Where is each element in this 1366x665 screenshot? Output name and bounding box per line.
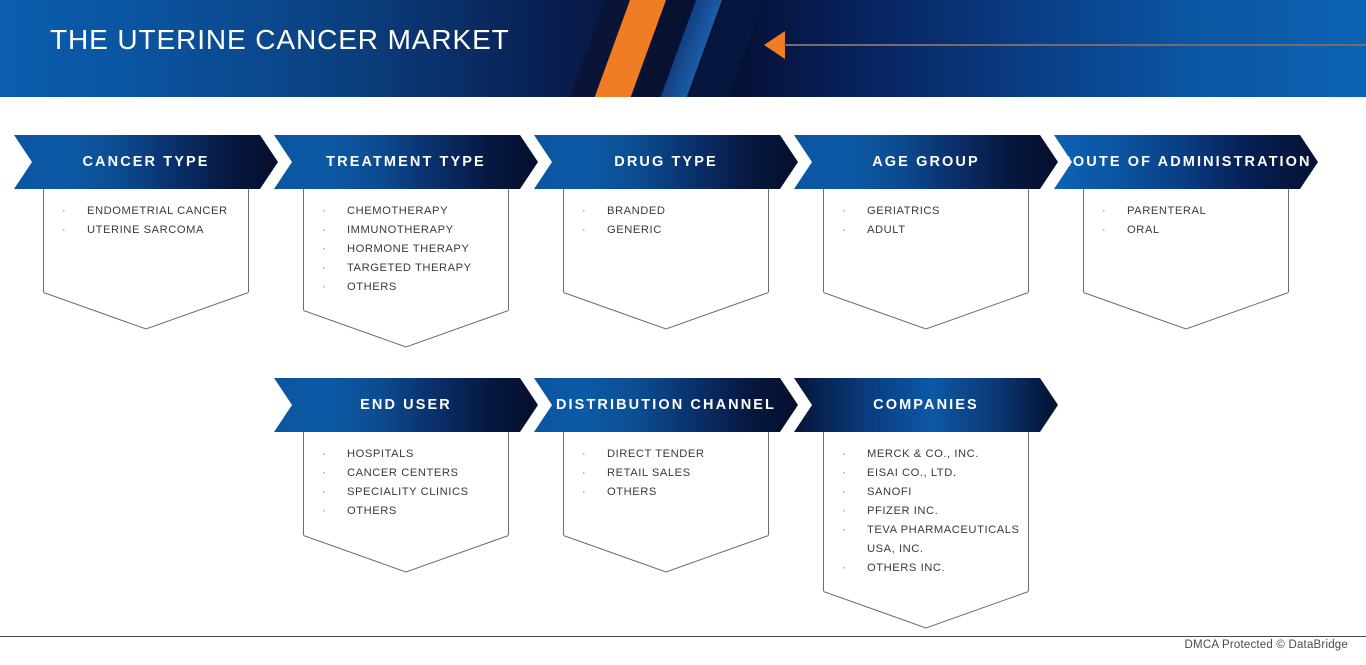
segment-banner-companies[interactable]: COMPANIES bbox=[794, 378, 1058, 432]
list-item-label: PFIZER INC. bbox=[867, 505, 938, 517]
segment-column-age-group: AGE GROUP·GERIATRICS·ADULT bbox=[794, 135, 1058, 330]
list-item-label: ADULT bbox=[867, 224, 906, 236]
segment-column-cancer-type: CANCER TYPE·ENDOMETRIAL CANCER·UTERINE S… bbox=[14, 135, 278, 330]
list-item-label: TARGETED THERAPY bbox=[347, 262, 472, 274]
segment-column-treatment-type: TREATMENT TYPE·CHEMOTHERAPY·IMMUNOTHERAP… bbox=[274, 135, 538, 348]
segment-panel-route-of-administration: ·PARENTERAL·ORAL bbox=[1083, 189, 1289, 330]
bullet-icon: · bbox=[1102, 202, 1106, 221]
segment-panel-point bbox=[43, 292, 249, 330]
segment-panel-end-user: ·HOSPITALS·CANCER CENTERS·SPECIALITY CLI… bbox=[303, 432, 509, 573]
list-item: ·UTERINE SARCOMA bbox=[62, 221, 248, 240]
bullet-icon: · bbox=[62, 202, 66, 221]
list-item-label: HORMONE THERAPY bbox=[347, 243, 469, 255]
bullet-icon: · bbox=[582, 483, 586, 502]
bullet-icon: · bbox=[322, 202, 326, 221]
segment-banner-cancer-type[interactable]: CANCER TYPE bbox=[14, 135, 278, 189]
segment-panel-body: ·MERCK & CO., INC.·EISAI CO., LTD.·SANOF… bbox=[823, 432, 1029, 591]
segment-panel-point bbox=[303, 310, 509, 348]
footer-divider bbox=[0, 636, 1366, 637]
list-item-label: HOSPITALS bbox=[347, 448, 414, 460]
list-item-label: CHEMOTHERAPY bbox=[347, 205, 448, 217]
list-item-label: ENDOMETRIAL CANCER bbox=[87, 205, 228, 217]
list-item-label: SPECIALITY CLINICS bbox=[347, 486, 469, 498]
list-item-label: BRANDED bbox=[607, 205, 666, 217]
list-item-label: TEVA PHARMACEUTICALS bbox=[867, 524, 1020, 536]
segment-title: DRUG TYPE bbox=[614, 153, 718, 171]
list-item: ·OTHERS INC. bbox=[842, 559, 1028, 578]
segment-panel-point bbox=[303, 535, 509, 573]
list-item: ·OTHERS bbox=[582, 483, 768, 502]
list-item-label: SANOFI bbox=[867, 486, 912, 498]
list-item-label: PARENTERAL bbox=[1127, 205, 1206, 217]
segment-title: AGE GROUP bbox=[872, 153, 980, 171]
bullet-icon: · bbox=[582, 464, 586, 483]
segmentation-board: CANCER TYPE·ENDOMETRIAL CANCER·UTERINE S… bbox=[0, 0, 1366, 665]
bullet-icon: · bbox=[582, 221, 586, 240]
bullet-icon: · bbox=[62, 221, 66, 240]
bullet-icon: · bbox=[322, 464, 326, 483]
bullet-icon: · bbox=[322, 445, 326, 464]
list-item: ·MERCK & CO., INC. bbox=[842, 445, 1028, 464]
segment-panel-body: ·CHEMOTHERAPY·IMMUNOTHERAPY·HORMONE THER… bbox=[303, 189, 509, 310]
segment-title: COMPANIES bbox=[873, 396, 979, 414]
bullet-icon: · bbox=[582, 445, 586, 464]
list-item: ·GERIATRICS bbox=[842, 202, 1028, 221]
segment-title: END USER bbox=[360, 396, 452, 414]
bullet-icon: · bbox=[1102, 221, 1106, 240]
segment-banner-age-group[interactable]: AGE GROUP bbox=[794, 135, 1058, 189]
list-item: ·HOSPITALS bbox=[322, 445, 508, 464]
list-item: ·HORMONE THERAPY bbox=[322, 240, 508, 259]
segment-panel-point bbox=[1083, 292, 1289, 330]
list-item-label: CANCER CENTERS bbox=[347, 467, 459, 479]
list-item: ·PARENTERAL bbox=[1102, 202, 1288, 221]
list-item-label: UTERINE SARCOMA bbox=[87, 224, 204, 236]
bullet-icon: · bbox=[842, 464, 846, 483]
segment-banner-end-user[interactable]: END USER bbox=[274, 378, 538, 432]
list-item: ·CANCER CENTERS bbox=[322, 464, 508, 483]
list-item-label: OTHERS bbox=[607, 486, 657, 498]
list-item-label: GERIATRICS bbox=[867, 205, 940, 217]
bullet-icon: · bbox=[322, 483, 326, 502]
segment-panel-body: ·DIRECT TENDER·RETAIL SALES·OTHERS bbox=[563, 432, 769, 535]
segment-panel-body: ·PARENTERAL·ORAL bbox=[1083, 189, 1289, 292]
segment-title: TREATMENT TYPE bbox=[326, 153, 486, 171]
list-item-label: ORAL bbox=[1127, 224, 1160, 236]
segment-panel-age-group: ·GERIATRICS·ADULT bbox=[823, 189, 1029, 330]
list-item-label: OTHERS bbox=[347, 505, 397, 517]
segment-panel-body: ·HOSPITALS·CANCER CENTERS·SPECIALITY CLI… bbox=[303, 432, 509, 535]
list-item-label: OTHERS bbox=[347, 281, 397, 293]
list-item-label: RETAIL SALES bbox=[607, 467, 691, 479]
segment-item-list: ·HOSPITALS·CANCER CENTERS·SPECIALITY CLI… bbox=[304, 445, 508, 521]
bullet-icon: · bbox=[322, 259, 326, 278]
segment-panel-cancer-type: ·ENDOMETRIAL CANCER·UTERINE SARCOMA bbox=[43, 189, 249, 330]
segment-banner-drug-type[interactable]: DRUG TYPE bbox=[534, 135, 798, 189]
list-item: ·GENERIC bbox=[582, 221, 768, 240]
list-item: ·TEVA PHARMACEUTICALS bbox=[842, 521, 1028, 540]
segment-item-list: ·MERCK & CO., INC.·EISAI CO., LTD.·SANOF… bbox=[824, 445, 1028, 578]
list-item: ·CHEMOTHERAPY bbox=[322, 202, 508, 221]
segment-banner-treatment-type[interactable]: TREATMENT TYPE bbox=[274, 135, 538, 189]
segment-column-drug-type: DRUG TYPE·BRANDED·GENERIC bbox=[534, 135, 798, 330]
segment-panel-body: ·ENDOMETRIAL CANCER·UTERINE SARCOMA bbox=[43, 189, 249, 292]
segment-panel-distribution-channel: ·DIRECT TENDER·RETAIL SALES·OTHERS bbox=[563, 432, 769, 573]
list-item-label: MERCK & CO., INC. bbox=[867, 448, 979, 460]
list-item: ·DIRECT TENDER bbox=[582, 445, 768, 464]
segment-item-list: ·CHEMOTHERAPY·IMMUNOTHERAPY·HORMONE THER… bbox=[304, 202, 508, 297]
segment-item-list: ·ENDOMETRIAL CANCER·UTERINE SARCOMA bbox=[44, 202, 248, 240]
segment-banner-route-of-administration[interactable]: ROUTE OF ADMINISTRATION bbox=[1054, 135, 1318, 189]
segment-column-route-of-administration: ROUTE OF ADMINISTRATION·PARENTERAL·ORAL bbox=[1054, 135, 1318, 330]
segment-panel-point bbox=[823, 591, 1029, 629]
bullet-icon: · bbox=[842, 483, 846, 502]
bullet-icon: · bbox=[842, 221, 846, 240]
list-item-label: IMMUNOTHERAPY bbox=[347, 224, 454, 236]
segment-title: ROUTE OF ADMINISTRATION bbox=[1060, 153, 1311, 171]
segment-panel-companies: ·MERCK & CO., INC.·EISAI CO., LTD.·SANOF… bbox=[823, 432, 1029, 629]
segment-item-list: ·DIRECT TENDER·RETAIL SALES·OTHERS bbox=[564, 445, 768, 502]
list-item: ·ENDOMETRIAL CANCER bbox=[62, 202, 248, 221]
bullet-icon: · bbox=[842, 521, 846, 540]
segment-item-list: ·BRANDED·GENERIC bbox=[564, 202, 768, 240]
bullet-icon: · bbox=[582, 202, 586, 221]
segment-column-end-user: END USER·HOSPITALS·CANCER CENTERS·SPECIA… bbox=[274, 378, 538, 573]
list-item-label: EISAI CO., LTD. bbox=[867, 467, 956, 479]
bullet-icon: · bbox=[842, 445, 846, 464]
bullet-icon: · bbox=[842, 559, 846, 578]
list-item: ·PFIZER INC. bbox=[842, 502, 1028, 521]
segment-panel-point bbox=[823, 292, 1029, 330]
segment-panel-point bbox=[563, 292, 769, 330]
list-item-label: OTHERS INC. bbox=[867, 562, 945, 574]
bullet-icon: · bbox=[842, 202, 846, 221]
segment-title: CANCER TYPE bbox=[82, 153, 209, 171]
segment-banner-distribution-channel[interactable]: DISTRIBUTION CHANNEL bbox=[534, 378, 798, 432]
list-item: ·EISAI CO., LTD. bbox=[842, 464, 1028, 483]
list-item: ·SPECIALITY CLINICS bbox=[322, 483, 508, 502]
footer-copyright: DMCA Protected © DataBridge bbox=[1185, 639, 1348, 651]
segment-title: DISTRIBUTION CHANNEL bbox=[556, 396, 776, 414]
bullet-icon: · bbox=[322, 221, 326, 240]
list-item-label: DIRECT TENDER bbox=[607, 448, 705, 460]
list-item: ·SANOFI bbox=[842, 483, 1028, 502]
list-item-label: GENERIC bbox=[607, 224, 662, 236]
list-item: ·IMMUNOTHERAPY bbox=[322, 221, 508, 240]
segment-panel-point bbox=[563, 535, 769, 573]
segment-panel-body: ·BRANDED·GENERIC bbox=[563, 189, 769, 292]
segment-column-companies: COMPANIES·MERCK & CO., INC.·EISAI CO., L… bbox=[794, 378, 1058, 629]
list-item: ·RETAIL SALES bbox=[582, 464, 768, 483]
list-item: ·ADULT bbox=[842, 221, 1028, 240]
list-item: ·OTHERS bbox=[322, 502, 508, 521]
list-item: ·ORAL bbox=[1102, 221, 1288, 240]
segment-item-list: ·PARENTERAL·ORAL bbox=[1084, 202, 1288, 240]
list-item: ·TARGETED THERAPY bbox=[322, 259, 508, 278]
bullet-icon: · bbox=[322, 240, 326, 259]
list-item-label: USA, INC. bbox=[867, 543, 924, 555]
segment-item-list: ·GERIATRICS·ADULT bbox=[824, 202, 1028, 240]
bullet-icon: · bbox=[322, 502, 326, 521]
bullet-icon: · bbox=[842, 502, 846, 521]
segment-panel-drug-type: ·BRANDED·GENERIC bbox=[563, 189, 769, 330]
list-item: ·OTHERS bbox=[322, 278, 508, 297]
bullet-icon: · bbox=[322, 278, 326, 297]
list-item: ·USA, INC. bbox=[842, 540, 1028, 559]
segment-column-distribution-channel: DISTRIBUTION CHANNEL·DIRECT TENDER·RETAI… bbox=[534, 378, 798, 573]
segment-panel-body: ·GERIATRICS·ADULT bbox=[823, 189, 1029, 292]
list-item: ·BRANDED bbox=[582, 202, 768, 221]
segment-panel-treatment-type: ·CHEMOTHERAPY·IMMUNOTHERAPY·HORMONE THER… bbox=[303, 189, 509, 348]
